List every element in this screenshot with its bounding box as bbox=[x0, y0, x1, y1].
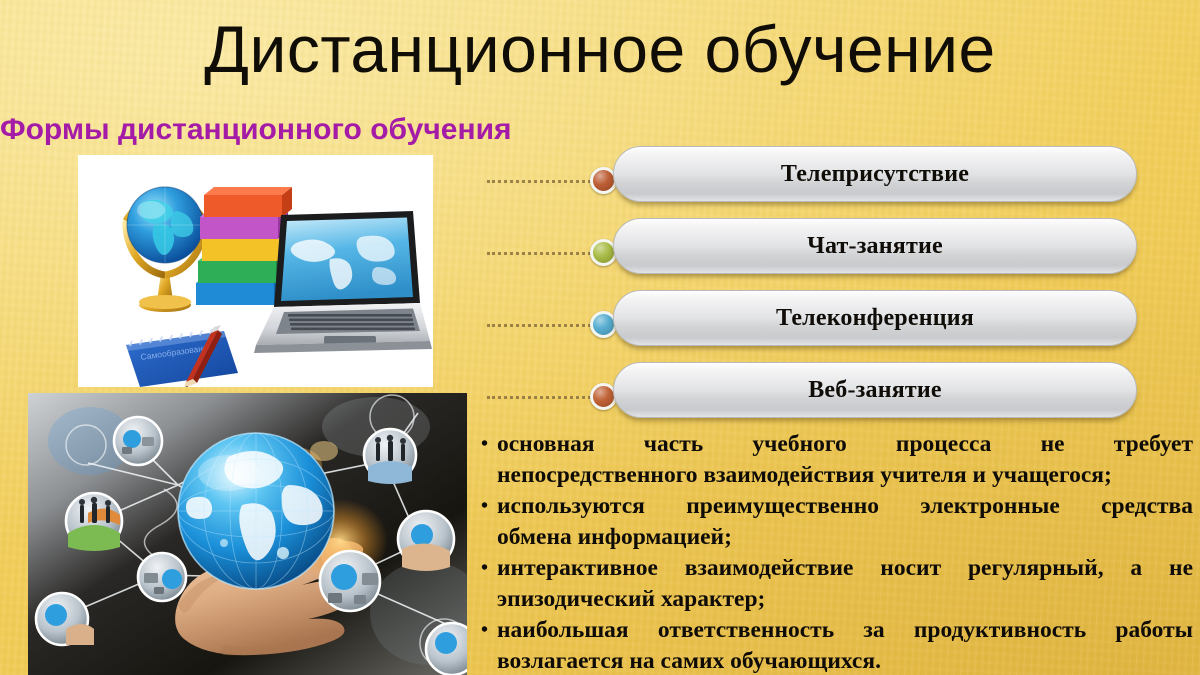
feature-line: основная часть учебного процесса не треб… bbox=[497, 429, 1193, 460]
bullet-marker: • bbox=[481, 429, 497, 460]
leader-line bbox=[487, 252, 597, 258]
bullet-marker: • bbox=[481, 553, 497, 584]
feature-line: используются преимущественно электронные… bbox=[497, 491, 1193, 522]
feature-line: интерактивное взаимодействие носит регул… bbox=[497, 553, 1193, 584]
form-pill-teleconference[interactable]: Телеконференция bbox=[613, 290, 1137, 346]
hand-holding-globe-photo bbox=[28, 393, 467, 675]
form-pill-chat-lesson[interactable]: Чат-занятие bbox=[613, 218, 1137, 274]
globe-icon bbox=[178, 433, 334, 589]
network-node bbox=[114, 417, 162, 465]
list-item: • интерактивное взаимодействие носит рег… bbox=[481, 553, 1193, 615]
list-item: • используются преимущественно электронн… bbox=[481, 491, 1193, 553]
leader-line bbox=[487, 324, 597, 330]
feature-line: возлагается на самих обучающихся. bbox=[497, 646, 1193, 675]
presentation-slide: Дистанционное обучение Формы дистанционн… bbox=[0, 0, 1200, 675]
leader-line bbox=[487, 396, 597, 402]
laptop-icon bbox=[254, 211, 432, 353]
bullet-marker: • bbox=[481, 615, 497, 646]
leader-line bbox=[487, 180, 597, 186]
forms-list: Телеприсутствие Чат-занятие Телеконферен… bbox=[487, 146, 1137, 434]
study-materials-photo: Самообразование bbox=[78, 155, 433, 387]
network-node bbox=[138, 553, 186, 601]
page-title: Дистанционное обучение bbox=[0, 8, 1200, 90]
slide-subtitle: Формы дистанционного обучения bbox=[0, 112, 512, 148]
form-pill-telepresence[interactable]: Телеприсутствие bbox=[613, 146, 1137, 202]
list-item[interactable]: Чат-занятие bbox=[487, 218, 1137, 290]
bullet-marker: • bbox=[481, 491, 497, 522]
form-pill-web-lesson[interactable]: Веб-занятие bbox=[613, 362, 1137, 418]
list-item[interactable]: Телеконференция bbox=[487, 290, 1137, 362]
pill-label: Веб-занятие bbox=[808, 377, 942, 404]
list-item[interactable]: Веб-занятие bbox=[487, 362, 1137, 434]
pill-label: Телеприсутствие bbox=[781, 161, 969, 188]
pill-label: Чат-занятие bbox=[807, 233, 943, 260]
features-list: • основная часть учебного процесса не тр… bbox=[481, 429, 1193, 675]
network-node bbox=[398, 511, 454, 571]
list-item: • основная часть учебного процесса не тр… bbox=[481, 429, 1193, 491]
network-node bbox=[66, 493, 122, 551]
feature-line: непосредственного взаимодействия учителя… bbox=[497, 460, 1193, 491]
feature-line: обмена информацией; bbox=[497, 522, 1193, 553]
list-item: • наибольшая ответственность за продукти… bbox=[481, 615, 1193, 675]
network-node bbox=[364, 429, 416, 484]
list-item[interactable]: Телеприсутствие bbox=[487, 146, 1137, 218]
network-node bbox=[426, 623, 467, 675]
feature-line: наибольшая ответственность за продуктивн… bbox=[497, 615, 1193, 646]
network-node bbox=[320, 551, 380, 611]
feature-line: эпизодический характер; bbox=[497, 584, 1193, 615]
pill-label: Телеконференция bbox=[776, 305, 974, 332]
